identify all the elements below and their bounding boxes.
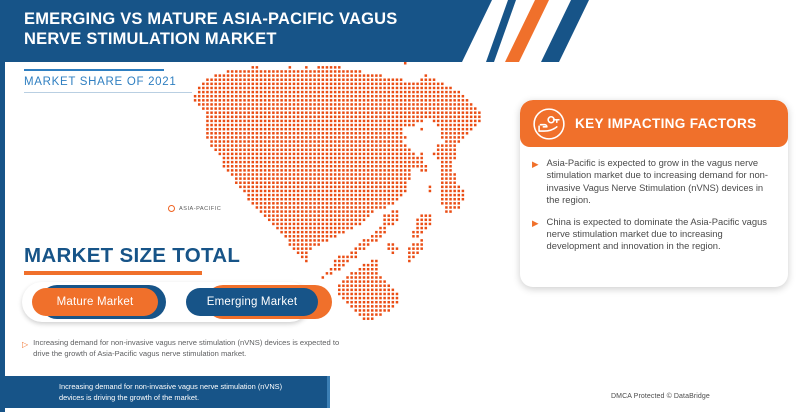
market-size-section: MARKET SIZE TOTAL	[24, 244, 240, 275]
header-banner: EMERGING VS MATURE ASIA-PACIFIC VAGUS NE…	[0, 0, 800, 62]
bottom-banner-text: Increasing demand for non-invasive vagus…	[59, 382, 309, 403]
triangle-right-icon: ▷	[22, 339, 28, 359]
key-impacting-factors-list: ▶ Asia-Pacific is expected to grow in th…	[520, 147, 788, 262]
list-item: ▶ Asia-Pacific is expected to grow in th…	[532, 157, 774, 207]
key-impacting-factors-header: KEY IMPACTING FACTORS	[520, 100, 788, 147]
list-item-text: China is expected to dominate the Asia-P…	[547, 216, 774, 253]
list-item: ▶ China is expected to dominate the Asia…	[532, 216, 774, 253]
list-item-text: Asia-Pacific is expected to grow in the …	[547, 157, 774, 207]
emerging-market-button[interactable]: Emerging Market	[186, 288, 318, 316]
dmca-footer: DMCA Protected © DataBridge	[611, 393, 710, 400]
infographic-root: EMERGING VS MATURE ASIA-PACIFIC VAGUS NE…	[0, 0, 800, 412]
left-edge-bar	[0, 62, 5, 412]
header-accent-underline	[24, 69, 164, 71]
bottom-banner: Increasing demand for non-invasive vagus…	[5, 376, 330, 408]
circle-outline-icon	[168, 205, 175, 212]
market-note-text: Increasing demand for non-invasive vagus…	[33, 338, 340, 359]
market-size-rule	[24, 271, 202, 275]
hand-holding-key-icon	[532, 107, 566, 141]
market-type-toggle-group: Mature Market Emerging Market	[22, 282, 310, 322]
page-title: EMERGING VS MATURE ASIA-PACIFIC VAGUS NE…	[24, 9, 454, 49]
triangle-right-icon: ▶	[532, 217, 539, 253]
market-note: ▷ Increasing demand for non-invasive vag…	[22, 338, 340, 359]
mature-market-button[interactable]: Mature Market	[32, 288, 158, 316]
market-size-title: MARKET SIZE TOTAL	[24, 244, 240, 268]
asia-pacific-marker-label: ASIA-PACIFIC	[179, 206, 221, 212]
key-impacting-factors-title: KEY IMPACTING FACTORS	[575, 116, 757, 131]
key-impacting-factors-card: KEY IMPACTING FACTORS ▶ Asia-Pacific is …	[520, 100, 788, 287]
asia-pacific-marker: ASIA-PACIFIC	[168, 205, 221, 212]
header-stripe-blue-2	[541, 0, 589, 62]
triangle-right-icon: ▶	[532, 158, 539, 207]
